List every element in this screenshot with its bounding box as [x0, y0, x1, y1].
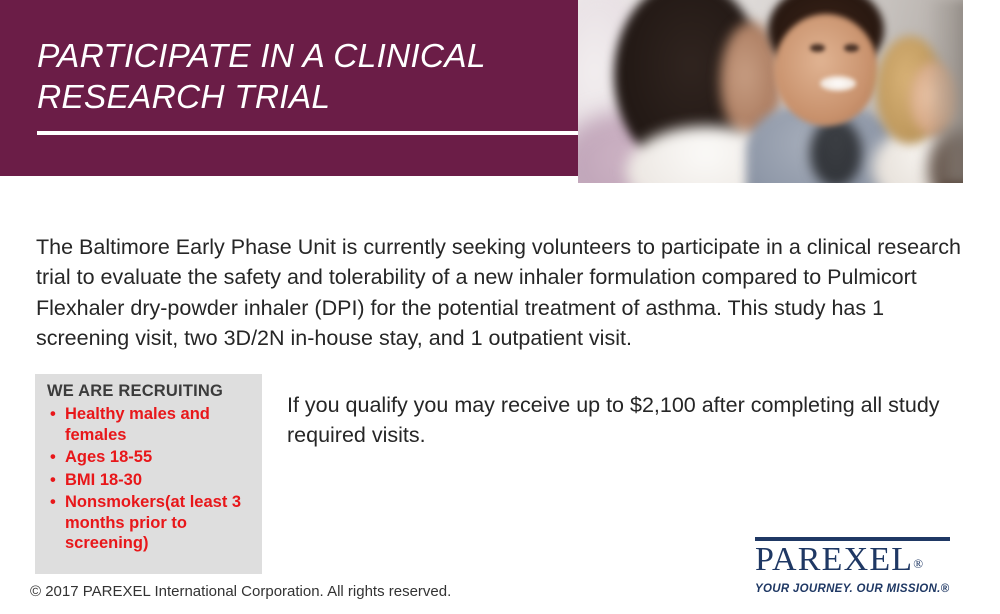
- list-item-label: BMI 18-30: [65, 471, 142, 489]
- list-item-label: Nonsmokers(at least 3 months prior to sc…: [65, 493, 241, 552]
- recruiting-heading: WE ARE RECRUITING: [47, 382, 252, 401]
- list-item-label: Ages 18-55: [65, 448, 152, 466]
- bullet-icon: •: [50, 404, 56, 425]
- bullet-icon: •: [50, 492, 56, 513]
- logo-wordmark: PAREXEL®: [755, 542, 975, 582]
- intro-paragraph: The Baltimore Early Phase Unit is curren…: [36, 232, 966, 354]
- title-underline-rule: [37, 131, 578, 135]
- photo-man-face: [774, 14, 878, 126]
- photo-man-shirt: [810, 118, 862, 183]
- logo-wordmark-text: PAREXEL: [755, 541, 913, 578]
- list-item-label: Healthy males and females: [65, 405, 210, 444]
- list-item: • Ages 18-55: [47, 447, 252, 468]
- recruiting-criteria-list: • Healthy males and females • Ages 18-55…: [47, 404, 252, 554]
- photo-right-vignette: [926, 0, 963, 183]
- parexel-logo: PAREXEL® YOUR JOURNEY. OUR MISSION.®: [755, 537, 975, 595]
- header-photo: [578, 0, 963, 183]
- bullet-icon: •: [50, 470, 56, 491]
- photo-man-eye-right: [844, 44, 859, 52]
- photo-man-eye-left: [810, 44, 825, 52]
- list-item: • BMI 18-30: [47, 470, 252, 491]
- page-title: PARTICIPATE IN A CLINICAL RESEARCH TRIAL: [37, 36, 562, 118]
- page-header: PARTICIPATE IN A CLINICAL RESEARCH TRIAL: [0, 0, 1000, 183]
- list-item: • Nonsmokers(at least 3 months prior to …: [47, 492, 252, 554]
- photo-man-smile: [820, 76, 856, 91]
- recruiting-criteria-box: WE ARE RECRUITING • Healthy males and fe…: [35, 374, 262, 574]
- registered-trademark-icon: ®: [913, 556, 923, 571]
- list-item: • Healthy males and females: [47, 404, 252, 445]
- compensation-text: If you qualify you may receive up to $2,…: [287, 390, 952, 451]
- copyright-notice: © 2017 PAREXEL International Corporation…: [30, 582, 451, 602]
- logo-tagline: YOUR JOURNEY. OUR MISSION.®: [755, 583, 975, 595]
- bullet-icon: •: [50, 447, 56, 468]
